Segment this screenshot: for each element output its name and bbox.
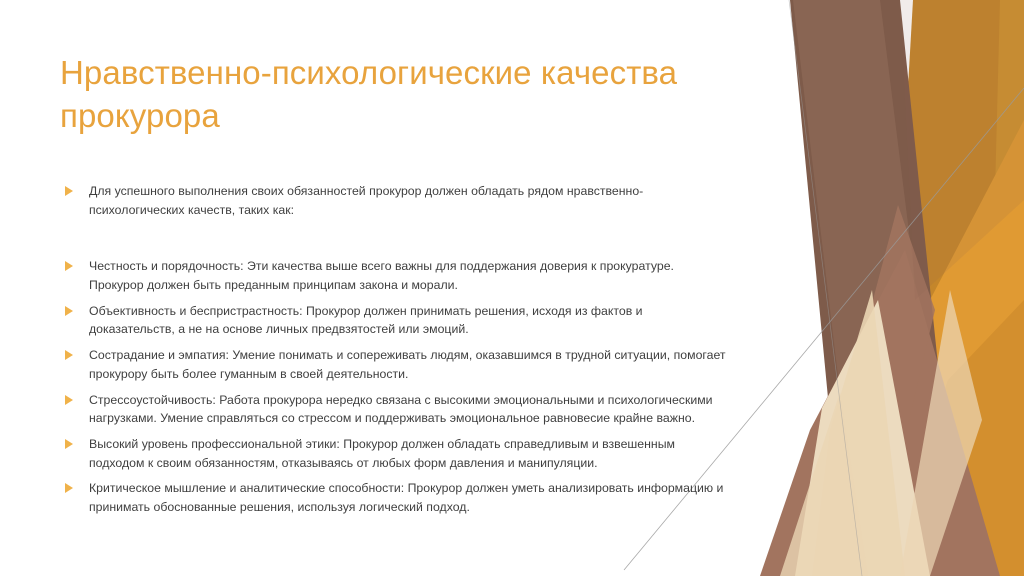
list-item-text: Сострадание и эмпатия: Умение понимать и… <box>89 346 730 383</box>
list-item-text: Критическое мышление и аналитические спо… <box>89 479 730 516</box>
triangle-bullet-icon <box>65 439 73 449</box>
slide-canvas: Нравственно-психологические качества про… <box>0 0 1024 576</box>
list-item: Высокий уровень профессиональной этики: … <box>62 435 730 472</box>
shape-brown-warm-accent <box>800 205 935 576</box>
shape-orange-mid-wedge <box>880 0 1000 576</box>
list-item: Честность и порядочность: Эти качества в… <box>62 257 730 294</box>
hairline-band-edge <box>789 0 862 576</box>
list-item: Для успешного выполнения своих обязаннос… <box>62 182 730 219</box>
shape-tan-sliver-left <box>780 392 868 576</box>
list-item: Сострадание и эмпатия: Умение понимать и… <box>62 346 730 383</box>
shape-orange-right-column <box>950 0 1024 576</box>
list-item-text: Объективность и беспристрастность: Проку… <box>89 302 730 339</box>
triangle-bullet-icon <box>65 350 73 360</box>
shape-overlay-facet <box>900 0 1024 300</box>
shape-brown-dark-band <box>790 0 960 576</box>
triangle-bullet-icon <box>65 395 73 405</box>
triangle-bullet-icon <box>65 261 73 271</box>
shape-tan-sliver-right <box>900 290 982 576</box>
triangle-bullet-icon <box>65 483 73 493</box>
page-title: Нравственно-психологические качества про… <box>60 52 680 138</box>
bullet-list: Для успешного выполнения своих обязаннос… <box>62 182 730 524</box>
triangle-bullet-icon <box>65 186 73 196</box>
list-item: Критическое мышление и аналитические спо… <box>62 479 730 516</box>
list-item-text: Честность и порядочность: Эти качества в… <box>89 257 730 294</box>
list-item-text: Высокий уровень профессиональной этики: … <box>89 435 730 472</box>
shape-brown-mid-band <box>793 0 952 576</box>
list-item: Объективность и беспристрастность: Проку… <box>62 302 730 339</box>
shape-tan-pale-wedge <box>795 300 930 576</box>
list-item-text: Для успешного выполнения своих обязаннос… <box>89 182 730 219</box>
list-item: Стрессоустойчивость: Работа прокурора не… <box>62 391 730 428</box>
shape-orange-deep-overlap <box>880 300 1024 576</box>
triangle-bullet-icon <box>65 306 73 316</box>
shape-orange-bright-sweep <box>818 120 1024 576</box>
shape-tan-light-triangle <box>812 290 905 576</box>
list-item-text: Стрессоустойчивость: Работа прокурора не… <box>89 391 730 428</box>
shape-brown-warm-diagonal <box>760 250 1000 576</box>
